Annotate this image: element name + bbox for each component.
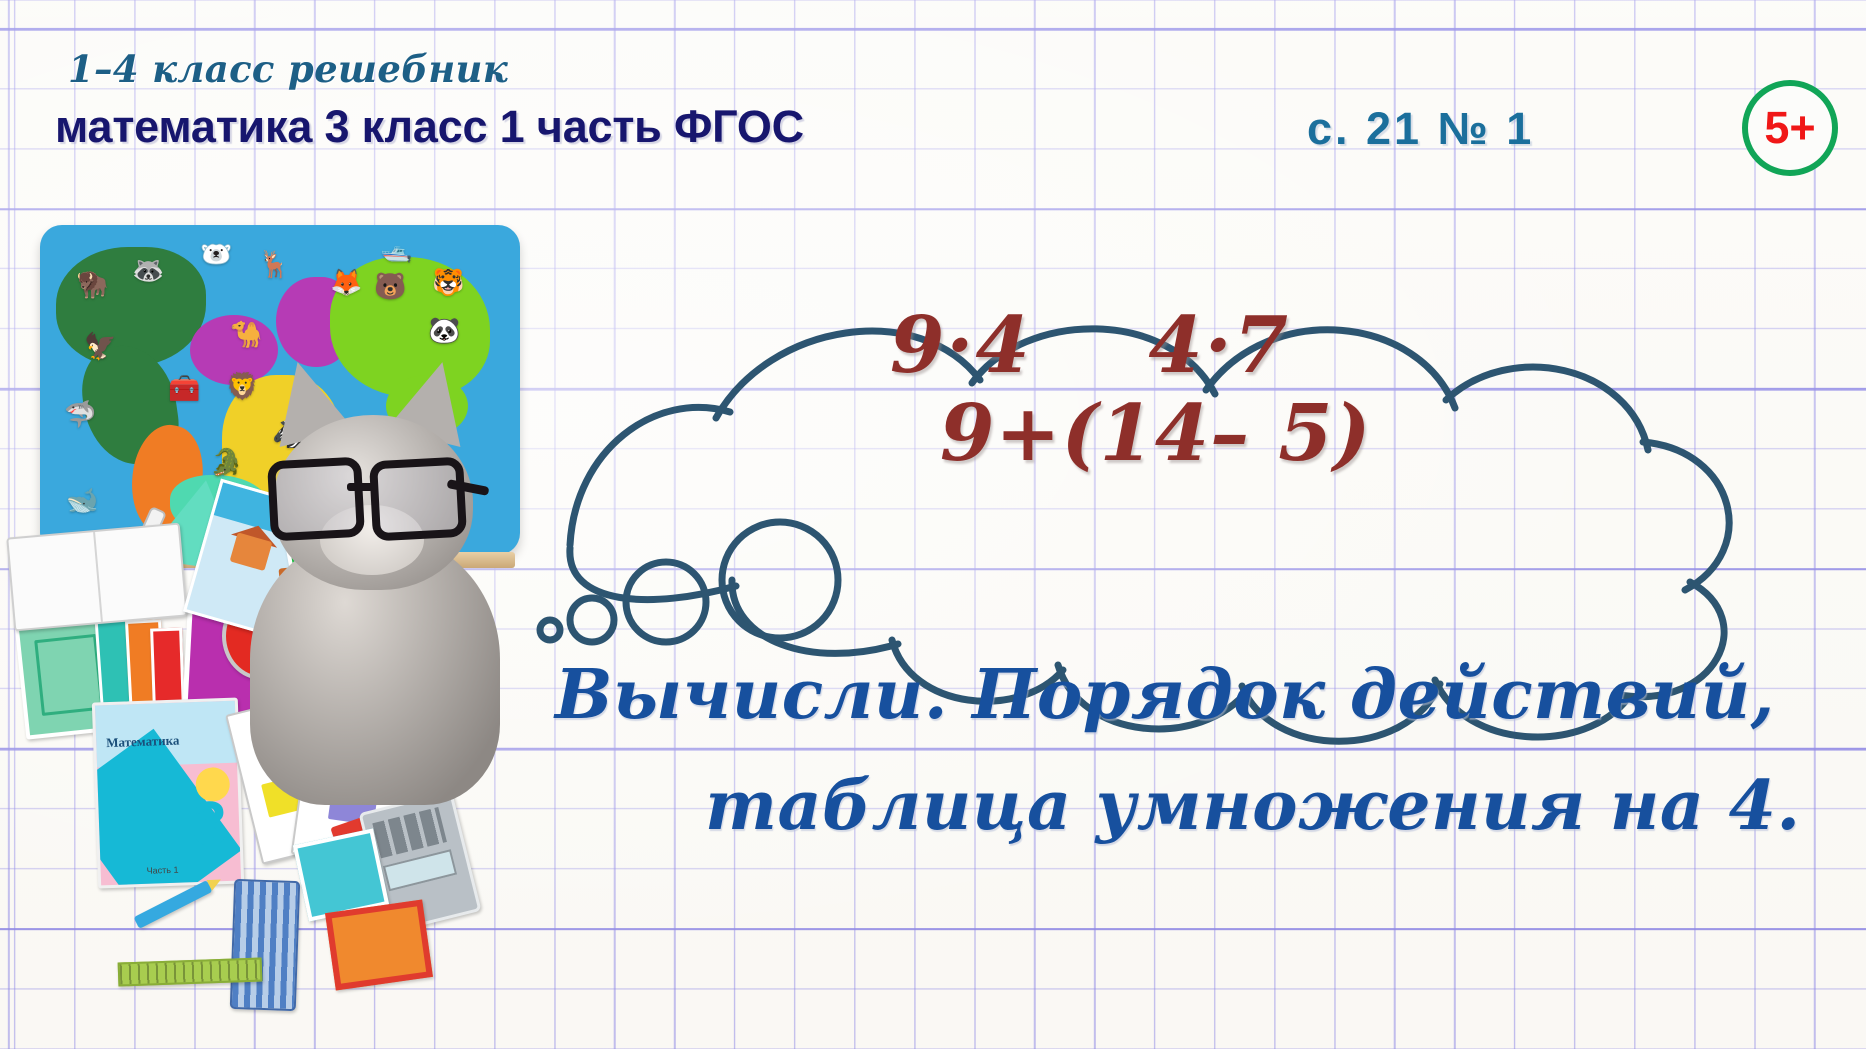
treasure-chest-icon: 🧰 xyxy=(168,375,200,401)
header-kicker: 1–4 класс решебник xyxy=(68,47,508,91)
animal-whale-icon: 🐋 xyxy=(66,487,98,513)
orange-notebook xyxy=(325,900,433,991)
textbook-part-label: Часть 1 xyxy=(147,865,179,876)
animal-shark-icon: 🦈 xyxy=(64,401,96,427)
blue-pencil xyxy=(134,880,213,929)
task-text-line-2: таблица умножения на 4. xyxy=(705,766,1801,846)
page-title: математика 3 класс 1 часть ФГОС xyxy=(55,101,804,153)
math-textbook-cover: Математика 3 Часть 1 xyxy=(92,698,244,889)
animal-tiger-icon: 🐯 xyxy=(432,269,464,295)
thought-tail-circle-large xyxy=(722,522,838,638)
school-supplies-collage: 🦬 🦝 🐻‍❄️ 🦌 🦊 🐻 🐯 🐼 🛥️ 🦅 🦈 🐪 🦁 🦓 🐋 🐊 🧰 xyxy=(0,200,640,1049)
animal-eagle-icon: 🦅 xyxy=(84,333,116,359)
submarine-icon: 🛥️ xyxy=(380,235,412,261)
animal-polarbear-icon: 🐻‍❄️ xyxy=(200,241,232,267)
striped-pencil-case xyxy=(230,879,300,1011)
glasses-lens-right xyxy=(369,457,467,542)
age-rating-label: 5+ xyxy=(1764,105,1815,150)
glasses-lens-left xyxy=(267,457,365,542)
page-reference: с. 21 № 1 xyxy=(1307,103,1534,155)
cat-with-glasses xyxy=(225,355,515,805)
textbook-grade-number: 3 xyxy=(192,793,229,856)
task-text-line-1: Вычисли. Порядок действий, xyxy=(555,655,1775,735)
glasses-bridge xyxy=(347,483,373,491)
animal-fox-icon: 🦊 xyxy=(330,269,362,295)
poster-canvas: 1–4 класс решебник математика 3 класс 1 … xyxy=(0,0,1866,1049)
animal-moose-icon: 🦌 xyxy=(258,251,290,277)
open-notebook xyxy=(6,523,188,632)
animal-bear-icon: 🐻 xyxy=(374,273,406,299)
animal-panda-icon: 🐼 xyxy=(428,317,460,343)
equation-line-2: 9+(14– 5) xyxy=(940,388,1371,479)
equation-line-1: 9·4 4·7 xyxy=(890,300,1290,391)
animal-bison-icon: 🦬 xyxy=(76,271,108,297)
animal-raccoon-icon: 🦝 xyxy=(132,257,164,283)
ruler xyxy=(118,957,263,986)
animal-camel-icon: 🐪 xyxy=(230,321,262,347)
